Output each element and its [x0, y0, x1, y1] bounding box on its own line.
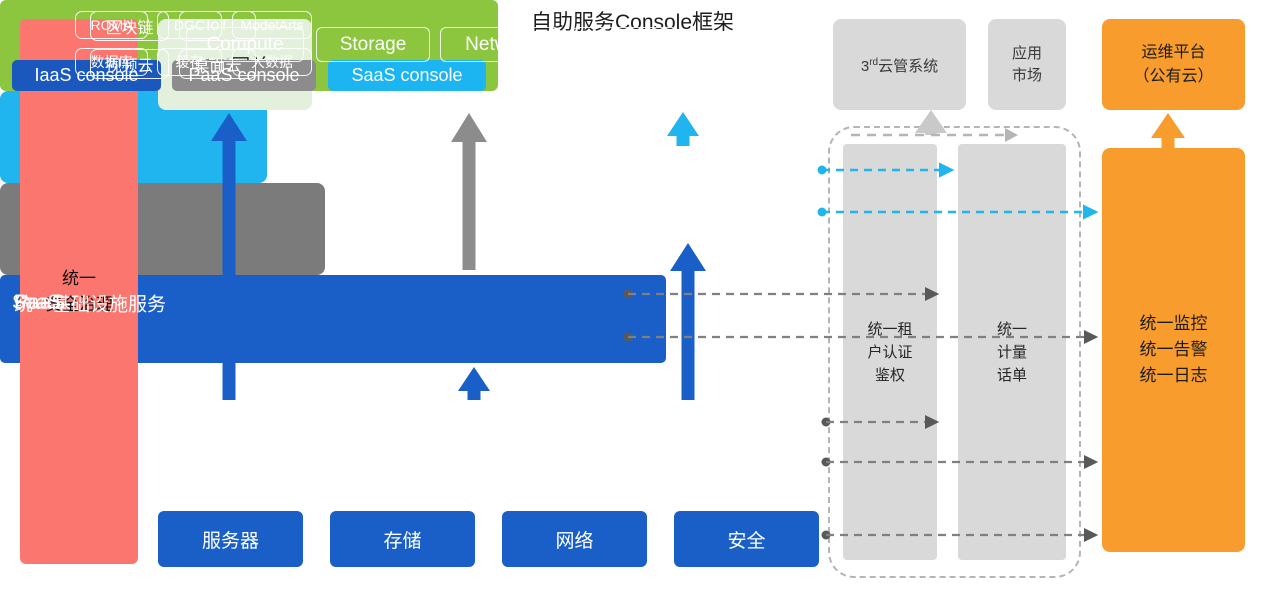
infra-chip-cce[interactable]: CCE — [572, 27, 678, 62]
app-market-line-2: 市场 — [1012, 65, 1042, 87]
arrow-ops-body-to-header — [1151, 113, 1185, 148]
architecture-diagram: 统一 安全治理 API网关 自助服务Console框架 IaaS console… — [0, 0, 1265, 605]
saas-console-button[interactable]: SaaS console — [328, 60, 486, 91]
meter-line-2: 计量 — [997, 341, 1027, 364]
app-market-line-1: 应用 — [1012, 43, 1042, 65]
ops-header-line-1: 运维平台 — [1133, 41, 1213, 65]
meter-line-3: 话单 — [997, 364, 1027, 387]
ops-platform-header-box: 运维平台 （公有云） — [1102, 19, 1245, 110]
ops-platform-body-box: 统一监控 统一告警 统一日志 — [1102, 148, 1245, 552]
unified-metering-billing-column: 统一 计量 话单 — [958, 144, 1066, 560]
auth-line-2: 户认证 — [867, 341, 912, 364]
meter-line-1: 统一 — [997, 318, 1027, 341]
resource-box-network: 网络 — [502, 511, 647, 567]
arrow-infra-to-saas — [670, 243, 706, 400]
ops-body-line-2: 统一告警 — [1140, 337, 1208, 363]
app-market-box: 应用 市场 — [988, 19, 1066, 110]
third-party-cloud-management-box: 3rd云管系统 — [833, 19, 966, 110]
paas-chip-database[interactable]: 数据库 — [75, 48, 148, 76]
auth-line-3: 鉴权 — [867, 364, 912, 387]
arrow-saas-to-console — [667, 112, 699, 146]
infra-chip-storage[interactable]: Storage — [316, 27, 430, 62]
third-party-suffix: 云管系统 — [878, 58, 938, 75]
paas-chip-roma[interactable]: ROMA — [75, 11, 148, 39]
ops-body-line-3: 统一日志 — [1140, 363, 1208, 389]
ops-body-line-1: 统一监控 — [1140, 311, 1208, 337]
infra-chip-network[interactable]: Network — [440, 27, 560, 62]
arrow-paas-to-console — [451, 113, 487, 270]
infra-label: 统一基础设施服务 — [14, 289, 166, 316]
arrow-infra-to-paas — [458, 367, 490, 400]
resource-box-security: 安全 — [674, 511, 819, 567]
unified-tenant-auth-column: 统一租 户认证 鉴权 — [843, 144, 937, 560]
security-line-1: 统一 — [45, 266, 113, 292]
third-party-superscript: rd — [869, 57, 878, 68]
ops-header-line-2: （公有云） — [1133, 65, 1213, 89]
third-party-prefix: 3 — [861, 58, 869, 75]
auth-line-1: 统一租 — [867, 318, 912, 341]
resource-box-server: 服务器 — [158, 511, 303, 567]
infra-chip-compute[interactable]: Compute — [186, 27, 304, 62]
resource-box-storage: 存储 — [330, 511, 475, 567]
